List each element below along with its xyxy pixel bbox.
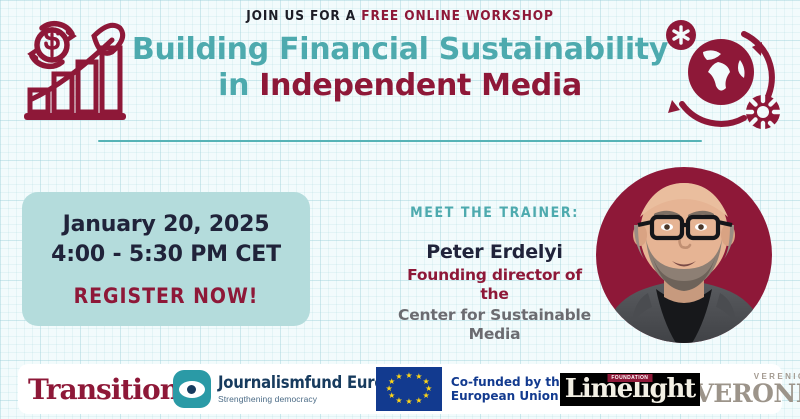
logo-veronica-name: VERONICA [694, 381, 800, 407]
eu-flag-icon: ★ ★ ★ ★ ★ ★ ★ ★ ★ ★ ★ ★ [376, 367, 442, 411]
section-divider [98, 140, 702, 142]
page-title: Building Financial Sustainability in Ind… [130, 32, 670, 104]
logo-veronica[interactable]: VERENIGING VERONICA [700, 364, 800, 414]
logo-limelight[interactable]: FOUNDATION Limelight [560, 364, 700, 414]
logo-limelight-box: FOUNDATION Limelight [560, 373, 700, 406]
trainer-name: Peter Erdelyi [392, 241, 597, 263]
eye-icon [173, 370, 211, 408]
meet-the-trainer-label: MEET THE TRAINER: [392, 205, 597, 221]
trainer-portrait-photo [578, 167, 790, 355]
event-time: 4:00 - 5:30 PM CET [51, 240, 281, 270]
title-line-1: Building Financial Sustainability [130, 32, 670, 68]
kicker-plain-text: JOIN US FOR A [246, 8, 356, 24]
kicker-highlight-text: FREE ONLINE WORKSHOP [361, 8, 554, 24]
register-now-cta[interactable]: REGISTER NOW! [74, 284, 259, 308]
logo-eu-line2: European Union [451, 389, 559, 403]
logo-transitions[interactable]: Transitions [18, 364, 194, 414]
eye-icon-pupil [187, 385, 196, 394]
logo-eu-text: Co-funded by the European Union [451, 375, 568, 403]
eye-icon-outer [179, 381, 205, 398]
event-info-box: January 20, 2025 4:00 - 5:30 PM CET REGI… [22, 192, 310, 326]
title-line-2-highlight: Independent Media [259, 68, 582, 103]
logo-limelight-superlabel: FOUNDATION [607, 374, 652, 382]
trainer-organization: Center for Sustainable Media [392, 306, 597, 344]
title-line-2-prefix: in [218, 68, 249, 103]
logo-european-union[interactable]: ★ ★ ★ ★ ★ ★ ★ ★ ★ ★ ★ ★ Co-funded by the… [384, 364, 560, 414]
logo-journalismfund[interactable]: Journalismfund Europe Strengthening demo… [194, 364, 384, 414]
logo-eu-line1: Co-funded by the [451, 375, 568, 389]
globe-sustainability-cycle-icon [658, 8, 788, 136]
growth-chart-dollar-leaf-icon [16, 14, 134, 126]
trainer-role: Founding director of the [392, 266, 597, 304]
logo-transitions-text: Transitions [28, 373, 194, 406]
title-line-2: in Independent Media [130, 68, 670, 104]
sponsor-logo-bar: Transitions Journalismfund Europe Streng… [18, 364, 782, 414]
event-date: January 20, 2025 [63, 210, 270, 240]
workshop-promo-poster: JOIN US FOR A FREE ONLINE WORKSHOP Build… [0, 0, 800, 419]
trainer-block: MEET THE TRAINER: Peter Erdelyi Founding… [392, 205, 597, 344]
